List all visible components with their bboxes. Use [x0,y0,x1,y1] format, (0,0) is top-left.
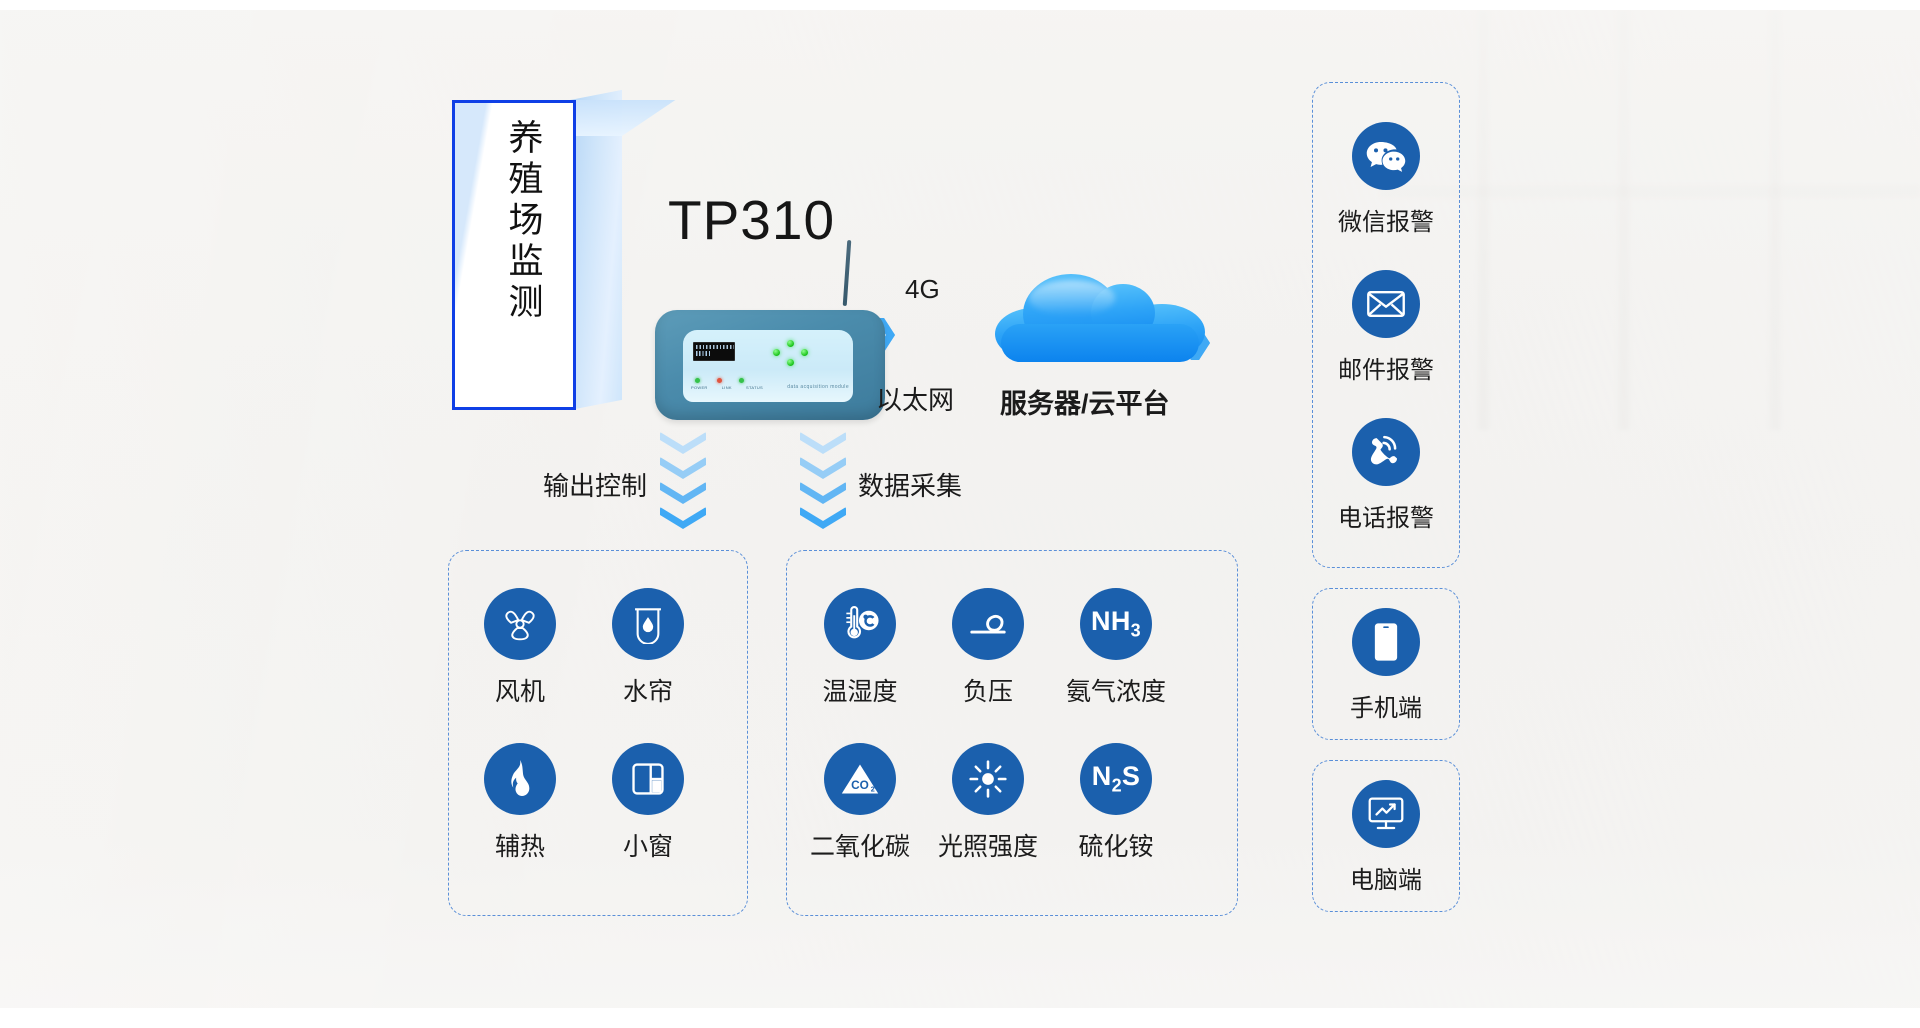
flame-icon [484,743,556,815]
co2-icon: CO 2 [824,743,896,815]
control-item-water-curtain[interactable]: 水帘 [588,588,708,708]
chevron-down-icon [660,457,706,479]
chevron-right-icon [899,318,919,352]
box-front-face: 养殖场监测 [452,100,576,410]
sun-icon [952,743,1024,815]
device-led-cluster [773,340,809,372]
client-item-label: 手机端 [1326,688,1446,723]
phone-ring-icon [1352,418,1420,486]
wechat-icon [1352,122,1420,190]
uplink-ethernet-label: 以太网 [876,380,954,417]
n2s-icon: N2S [1080,743,1152,815]
nh3-formula: NH3 [1091,606,1141,641]
alarm-item-label: 微信报警 [1326,202,1446,237]
chevron-down-icon [800,457,846,479]
n2s-formula: N2S [1092,761,1140,796]
alarm-item-email[interactable]: 邮件报警 [1326,270,1446,385]
box-side-face [570,90,622,410]
product-name-label: TP310 [668,188,835,252]
control-item-label: 风机 [460,672,580,708]
monitor-chart-icon [1352,780,1420,848]
chevron-right-icon [1214,326,1234,360]
water-curtain-icon [612,588,684,660]
bottom-white-band [0,1008,1920,1028]
device-lcd-screen [693,342,735,361]
control-item-small-window[interactable]: 小窗 [588,743,708,863]
control-item-aux-heat[interactable]: 辅热 [460,743,580,863]
uplink-chevrons [875,318,967,352]
uplink-4g-label: 4G [905,274,940,305]
cloud-platform-label: 服务器/云平台 [1000,382,1170,421]
alarm-item-wechat[interactable]: 微信报警 [1326,122,1446,237]
sensor-item-label: 硫化铵 [1056,827,1176,863]
sensor-item-temp-humidity[interactable]: 温湿度 [800,588,920,708]
client-item-mobile[interactable]: 手机端 [1326,608,1446,723]
device-pilot-label: LINK [722,385,732,390]
sensor-item-light-intensity[interactable]: 光照强度 [928,743,1048,863]
alarm-item-label: 邮件报警 [1326,350,1446,385]
device-pilot-label: POWER [691,385,708,390]
sensor-item-negative-pressure[interactable]: 负压 [928,588,1048,708]
svg-text:CO: CO [851,778,869,792]
sensor-item-label: 氨气浓度 [1056,672,1176,708]
chevron-right-icon [923,318,943,352]
sensor-item-label: 负压 [928,672,1048,708]
smartphone-icon [1352,608,1420,676]
chevron-down-icon [800,507,846,529]
top-white-band [0,0,1920,10]
client-item-label: 电脑端 [1326,860,1446,895]
chevron-right-icon [1262,326,1282,360]
sensor-item-co2[interactable]: CO 2 二氧化碳 [800,743,920,863]
sensor-item-label: 光照强度 [928,827,1048,863]
device-front-panel [683,330,853,402]
negative-pressure-icon [952,588,1024,660]
sensor-item-ammonia[interactable]: NH3 氨气浓度 [1056,588,1176,708]
output-control-chevrons [660,432,706,529]
diagram-canvas: 养殖场监测 TP310 data acquisition module POWE… [0,0,1920,1028]
small-window-icon [612,743,684,815]
chevron-down-icon [800,482,846,504]
fan-icon [484,588,556,660]
client-item-pc[interactable]: 电脑端 [1326,780,1446,895]
sensor-item-label: 温湿度 [800,672,920,708]
device-pilot-label: STATUS [746,385,763,390]
alarm-item-label: 电话报警 [1326,498,1446,533]
control-item-label: 水帘 [588,672,708,708]
svg-text:2: 2 [871,785,875,794]
data-collection-label: 数据采集 [858,466,962,503]
device-brand-text: data acquisition module [787,384,849,390]
chevron-right-icon [1238,326,1258,360]
farm-monitoring-box: 养殖场监测 [452,100,622,410]
cloud-server-icon [995,268,1205,363]
chevron-down-icon [800,432,846,454]
control-item-label: 小窗 [588,827,708,863]
control-item-label: 辅热 [460,827,580,863]
chevron-down-icon [660,432,706,454]
sensor-item-label: 二氧化碳 [800,827,920,863]
farm-box-title: 养殖场监测 [503,119,540,324]
thermometer-humidity-icon [824,588,896,660]
output-control-label: 输出控制 [543,466,647,503]
chevron-right-icon [947,318,967,352]
control-item-fan[interactable]: 风机 [460,588,580,708]
chevron-down-icon [660,507,706,529]
data-collection-chevrons [800,432,846,529]
mail-icon [1352,270,1420,338]
sensor-item-ammonium-sulfide[interactable]: N2S 硫化铵 [1056,743,1176,863]
nh3-icon: NH3 [1080,588,1152,660]
chevron-down-icon [660,482,706,504]
device-pilot-labels: POWERLINKSTATUS [691,385,763,390]
tp310-device: data acquisition module POWERLINKSTATUS [655,300,885,420]
alarm-item-phone[interactable]: 电话报警 [1326,418,1446,533]
